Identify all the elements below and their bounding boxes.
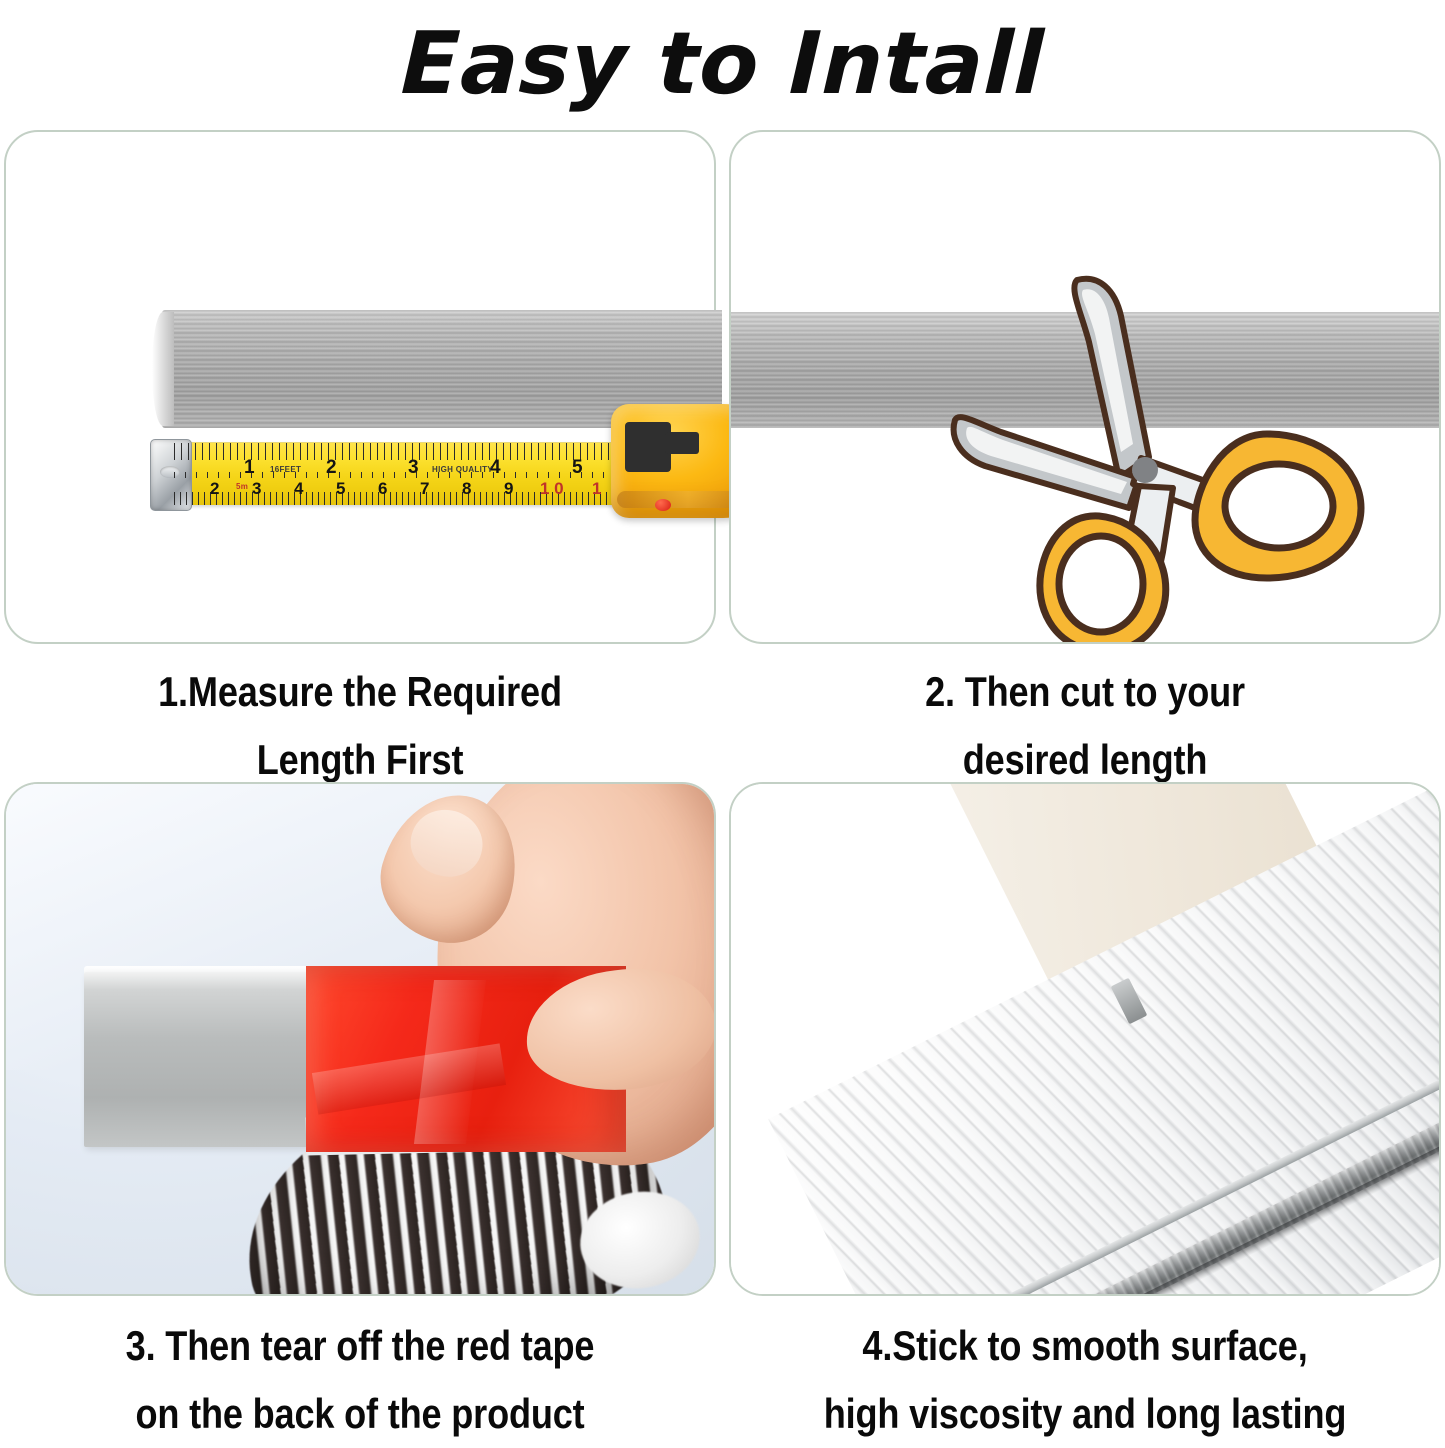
step-image-peel [4, 782, 716, 1296]
step-image-measure: 1 2 3 4 5 6 2 3 4 5 6 7 8 9 1 0 [4, 130, 716, 644]
tape-inch-3: 3 [408, 457, 419, 479]
step-card-peel: 3. Then tear off the red tape on the bac… [4, 782, 716, 1448]
tape-quality-text: HIGH QUALITY [432, 465, 493, 474]
tape-inch-5: 5 [572, 457, 583, 479]
tape-inch-1: 1 [244, 457, 255, 479]
step-caption-cut: 2. Then cut to your desired length [779, 658, 1391, 794]
tape-metric-text: 5m [236, 482, 248, 491]
tape-cm-7: 7 [420, 479, 429, 499]
tape-cm-9: 9 [504, 479, 513, 499]
tape-lock-icon [625, 422, 671, 472]
step-card-cut: 2. Then cut to your desired length [729, 130, 1441, 794]
tape-cm-11: 1 [592, 479, 601, 499]
tape-cm-10: 1 0 [540, 479, 564, 499]
tape-cm-5: 5 [336, 479, 345, 499]
step-card-stick: 4.Stick to smooth surface, high viscosit… [729, 782, 1441, 1448]
steps-grid: 1 2 3 4 5 6 2 3 4 5 6 7 8 9 1 0 [0, 130, 1445, 1432]
scissors-icon [949, 272, 1379, 642]
tape-measure-blade: 1 2 3 4 5 6 2 3 4 5 6 7 8 9 1 0 [174, 442, 679, 505]
step-caption-peel: 3. Then tear off the red tape on the bac… [54, 1312, 666, 1448]
tape-cm-2: 2 [210, 479, 219, 499]
tape-cm-8: 8 [462, 479, 471, 499]
page-title: Easy to Intall [0, 0, 1445, 128]
step-card-measure: 1 2 3 4 5 6 2 3 4 5 6 7 8 9 1 0 [4, 130, 716, 794]
tape-inch-2: 2 [326, 457, 337, 479]
tape-cm-4: 4 [294, 479, 303, 499]
tape-cm-numbers: 2 3 4 5 6 7 8 9 1 0 1 5 [174, 479, 679, 499]
step-caption-measure: 1.Measure the Required Length First [54, 658, 666, 794]
tape-inch-numbers: 1 2 3 4 5 6 [174, 458, 679, 478]
tape-cm-3: 3 [252, 479, 261, 499]
tape-cm-6: 6 [378, 479, 387, 499]
step-caption-stick: 4.Stick to smooth surface, high viscosit… [779, 1312, 1391, 1448]
step-image-cut [729, 130, 1441, 644]
tape-crease [312, 1043, 506, 1114]
tape-brand-text: 16FEET [270, 465, 301, 474]
step-image-stick [729, 782, 1441, 1296]
tape-release-button-icon [655, 499, 671, 511]
scissors-pivot-icon [1132, 457, 1158, 483]
